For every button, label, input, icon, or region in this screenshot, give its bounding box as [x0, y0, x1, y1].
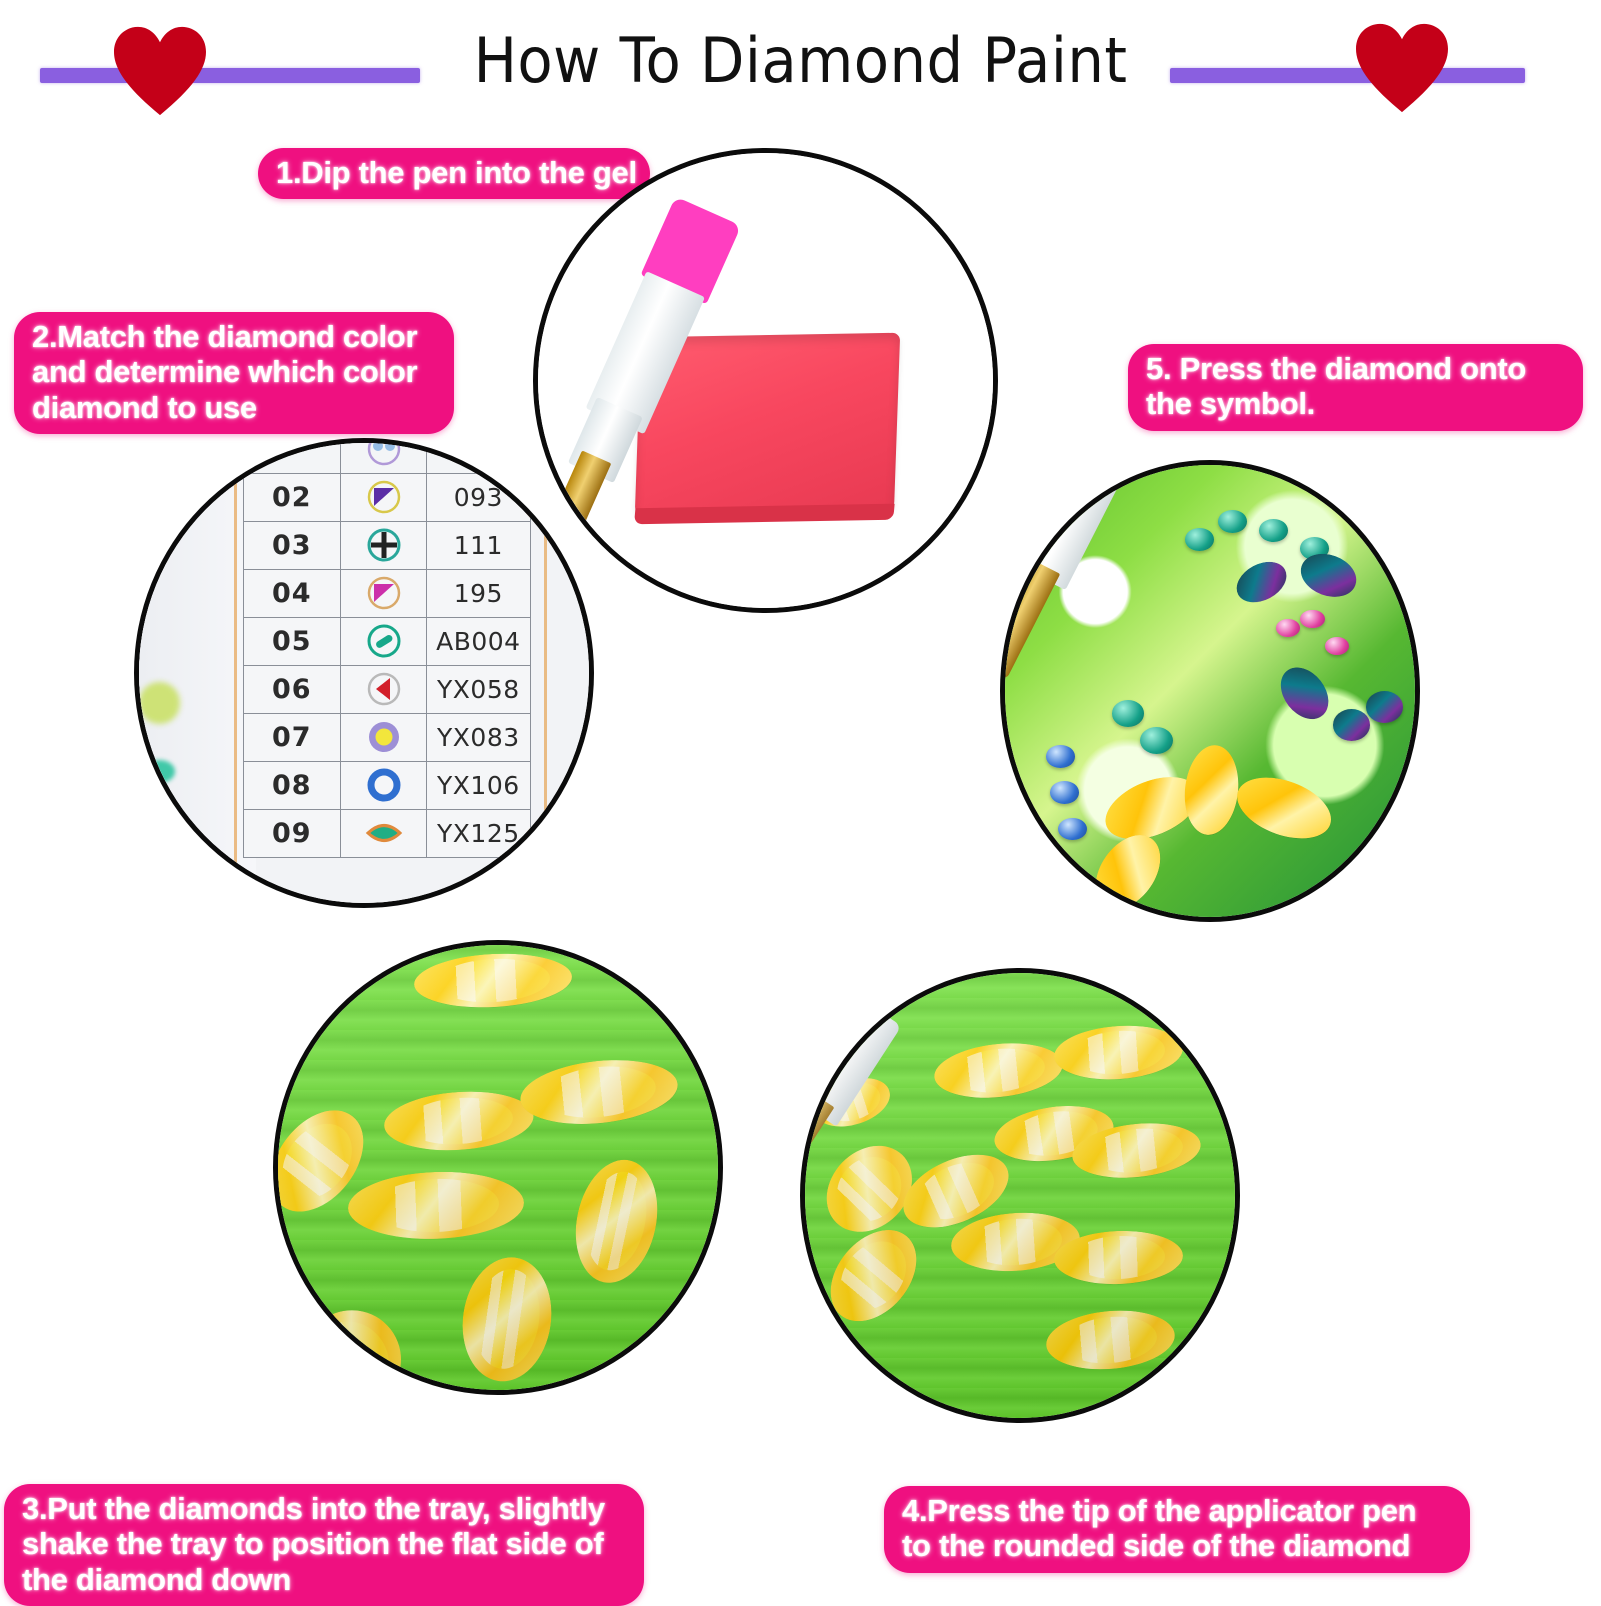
symbol-chart-row: 07YX083	[243, 713, 530, 761]
step-4-label: 4.Press the tip of the applicator pen to…	[884, 1486, 1470, 1573]
plus-icon	[341, 521, 427, 569]
symbol-row-code: 111	[427, 521, 530, 569]
symbol-row-code: 195	[427, 569, 530, 617]
symbol-row-number: 07	[243, 713, 341, 761]
patterned-canvas-photo	[1005, 465, 1415, 917]
step-2-label: 2.Match the diamond color and determine …	[14, 312, 454, 434]
pen-tip	[1000, 558, 1060, 679]
page-title: How To Diamond Paint	[56, 24, 1545, 97]
step-2-photo: 02802093031110419505AB00406YX05807YX0830…	[134, 438, 594, 908]
step-1-photo	[533, 148, 998, 613]
pen-in-gel-illustration	[538, 153, 993, 608]
symbol-row-number: 06	[243, 665, 341, 713]
symbol-row-number: 02	[243, 473, 341, 521]
symbol-row-code: AB004	[427, 617, 530, 665]
leaf-icon	[341, 809, 427, 857]
step-3-label: 3.Put the diamonds into the tray, slight…	[4, 1484, 644, 1606]
pen-picking-diamond-photo	[805, 973, 1235, 1418]
triangle-icon	[341, 473, 427, 521]
symbol-row-code: 093	[427, 473, 530, 521]
pen-body	[800, 995, 902, 1126]
symbol-chart-row: 028	[243, 438, 530, 473]
filled-dot-icon	[341, 713, 427, 761]
symbol-chart-row: 02093	[243, 473, 530, 521]
symbol-chart-table: 02802093031110419505AB00406YX05807YX0830…	[243, 438, 531, 858]
symbol-row-code: YX083	[427, 713, 530, 761]
symbol-row-number	[243, 438, 341, 473]
page-header: How To Diamond Paint	[0, 0, 1601, 130]
step-3-photo	[273, 940, 723, 1395]
symbol-row-number: 05	[243, 617, 341, 665]
symbol-chart-row: 03111	[243, 521, 530, 569]
slash-bar-icon	[341, 617, 427, 665]
diamond-tray-photo	[278, 945, 718, 1390]
step-5-photo	[1000, 460, 1420, 922]
symbol-row-number: 03	[243, 521, 341, 569]
triangle-icon	[341, 569, 427, 617]
twin-dot-circle-icon	[341, 438, 427, 473]
step-5-label: 5. Press the diamond onto the symbol.	[1128, 344, 1583, 431]
applicator-pen	[1000, 460, 1128, 699]
chevron-left-icon	[341, 665, 427, 713]
symbol-row-number: 09	[243, 809, 341, 857]
symbol-chart-row: 04195	[243, 569, 530, 617]
symbol-chart-row: 09YX125	[243, 809, 530, 857]
applicator-pen	[800, 991, 907, 1239]
symbol-row-code: YX058	[427, 665, 530, 713]
symbol-chart-row: 05AB004	[243, 617, 530, 665]
symbol-chart-row: 08YX106	[243, 761, 530, 809]
ring-icon	[341, 761, 427, 809]
symbol-row-code: 028	[427, 438, 530, 473]
symbol-row-number: 04	[243, 569, 341, 617]
symbol-chart-photo: 02802093031110419505AB00406YX05807YX0830…	[139, 443, 589, 903]
step-4-photo	[800, 968, 1240, 1423]
pen-tip	[800, 1088, 834, 1212]
symbol-row-number: 08	[243, 761, 341, 809]
symbol-row-code: YX106	[427, 761, 530, 809]
symbol-row-code: YX125	[427, 809, 530, 857]
symbol-chart-row: 06YX058	[243, 665, 530, 713]
